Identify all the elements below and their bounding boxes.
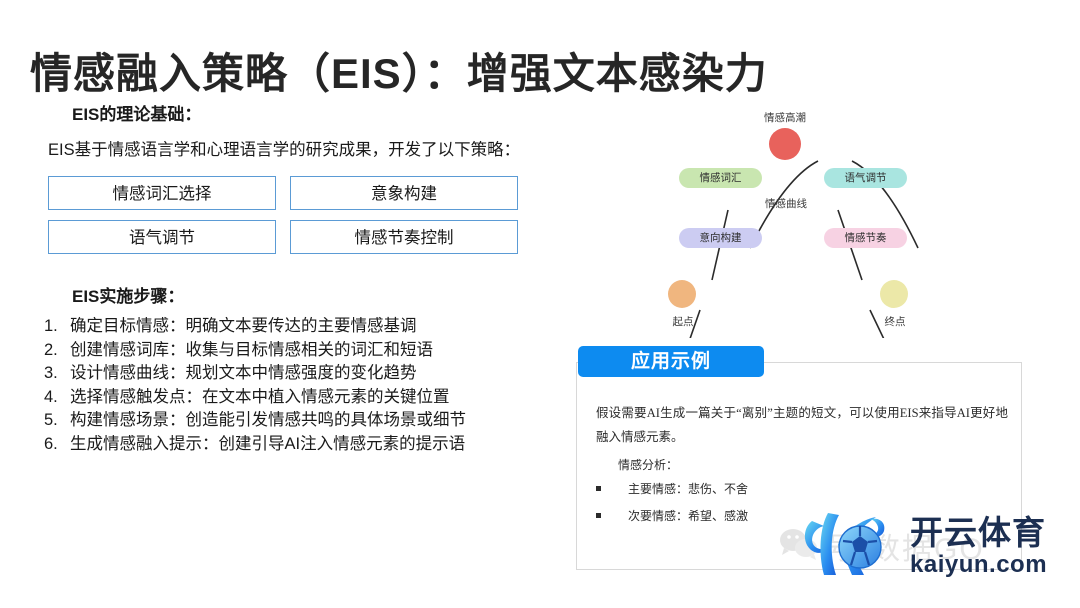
list-item: 主要情感：悲伤、不舍 [596,478,1008,501]
step-number: 1. [44,318,70,335]
slide-canvas: 情感融入策略（EIS）：增强文本感染力 EIS的理论基础： EIS基于情感语言学… [0,0,1080,608]
left-content-column: EIS的理论基础： EIS基于情感语言学和心理语言学的研究成果，开发了以下策略：… [44,100,564,459]
step-text: 设计情感曲线：规划文本中情感强度的变化趋势 [70,365,564,382]
example-tab-label[interactable]: 应用示例 [578,346,764,377]
strategy-box-emotion-vocabulary[interactable]: 情感词汇选择 [48,176,276,210]
end-label: 终点 [874,314,916,329]
curve-svg [600,98,1070,338]
strategy-box-imagery-construction[interactable]: 意象构建 [290,176,518,210]
curve-caption: 情感曲线 [755,196,817,211]
example-body: 假设需要AI生成一篇关于“离别”主题的短文，可以使用EIS来指导AI更好地融入情… [596,402,1008,532]
step-text: 创建情感词库：收集与目标情感相关的词汇和短语 [70,342,564,359]
pill-intention-construction[interactable]: 意向构建 [679,228,762,248]
example-bullet-list: 主要情感：悲伤、不舍 次要情感：希望、感激 [596,478,1008,528]
step-number: 2. [44,342,70,359]
step-number: 6. [44,436,70,453]
steps-heading: EIS实施步骤： [72,282,564,307]
peak-label: 情感高潮 [755,110,815,125]
intro-paragraph: EIS基于情感语言学和心理语言学的研究成果，开发了以下策略： [48,136,548,164]
list-item: 5. 构建情感场景：创造能引发情感共鸣的具体场景或细节 [44,412,564,429]
list-item: 4. 选择情感触发点：在文本中植入情感元素的关键位置 [44,389,564,406]
list-item: 6. 生成情感融入提示：创建引导AI注入情感元素的提示语 [44,436,564,453]
node-end-circle [880,280,908,308]
node-start-circle [668,280,696,308]
list-item: 1. 确定目标情感：明确文本要传达的主要情感基调 [44,318,564,335]
emotion-curve-diagram: 情感高潮 情感词汇 语气调节 意向构建 情感节奏 情感曲线 起点 终点 [600,98,1070,338]
strategy-box-grid: 情感词汇选择 意象构建 语气调节 情感节奏控制 [48,176,564,254]
list-item: 3. 设计情感曲线：规划文本中情感强度的变化趋势 [44,365,564,382]
step-text: 构建情感场景：创造能引发情感共鸣的具体场景或细节 [70,412,564,429]
pill-emotion-rhythm[interactable]: 情感节奏 [824,228,907,248]
implementation-steps-list: 1. 确定目标情感：明确文本要传达的主要情感基调 2. 创建情感词库：收集与目标… [44,318,564,452]
node-peak-circle [769,128,801,160]
example-subheading: 情感分析： [618,454,1008,477]
strategy-box-emotion-rhythm-control[interactable]: 情感节奏控制 [290,220,518,254]
list-item: 次要情感：希望、感激 [596,505,1008,528]
square-bullet-icon [596,486,601,491]
step-text: 选择情感触发点：在文本中植入情感元素的关键位置 [70,389,564,406]
step-number: 4. [44,389,70,406]
theory-heading: EIS的理论基础： [72,100,564,125]
pill-tone-adjustment[interactable]: 语气调节 [824,168,907,188]
step-text: 生成情感融入提示：创建引导AI注入情感元素的提示语 [70,436,564,453]
start-label: 起点 [662,314,704,329]
bullet-text: 次要情感：希望、感激 [628,505,748,528]
strategy-box-tone-adjustment[interactable]: 语气调节 [48,220,276,254]
bullet-text: 主要情感：悲伤、不舍 [628,478,748,501]
step-number: 5. [44,412,70,429]
example-intro-text: 假设需要AI生成一篇关于“离别”主题的短文，可以使用EIS来指导AI更好地融入情… [596,402,1008,450]
square-bullet-icon [596,513,601,518]
step-text: 确定目标情感：明确文本要传达的主要情感基调 [70,318,564,335]
pill-emotion-vocabulary[interactable]: 情感词汇 [679,168,762,188]
step-number: 3. [44,365,70,382]
page-title: 情感融入策略（EIS）：增强文本感染力 [30,50,1050,98]
list-item: 2. 创建情感词库：收集与目标情感相关的词汇和短语 [44,342,564,359]
